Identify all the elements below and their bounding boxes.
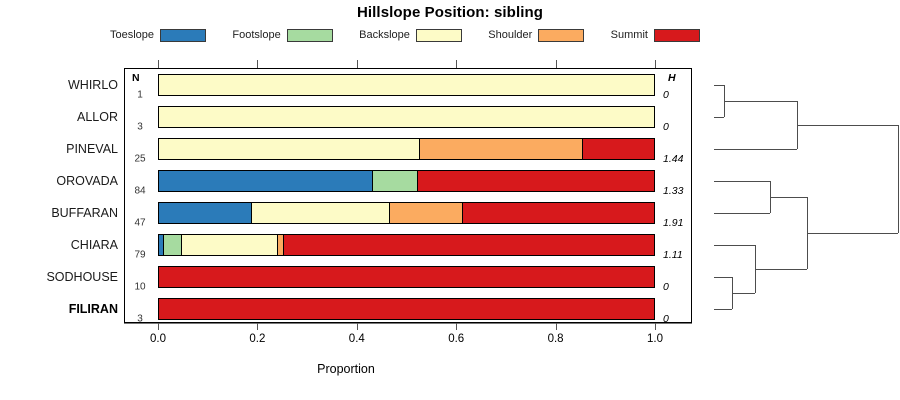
n-value: 79 — [134, 250, 145, 261]
bar-segment-backslope[interactable] — [182, 235, 278, 255]
h-value: 1.44 — [663, 153, 683, 165]
dendrogram-branch — [770, 197, 807, 198]
legend-swatch-icon — [416, 29, 462, 42]
legend-swatch-icon — [538, 29, 584, 42]
bar-segment-backslope[interactable] — [159, 75, 654, 95]
x-tick-label: 0.8 — [548, 333, 564, 345]
bar-segment-footslope[interactable] — [164, 235, 182, 255]
bar-segment-shoulder[interactable] — [390, 203, 463, 223]
stacked-bar-filiran[interactable] — [158, 298, 655, 320]
y-axis-label-buffaran: BUFFARAN — [51, 206, 118, 220]
bar-segment-summit[interactable] — [159, 267, 654, 287]
bar-segment-summit[interactable] — [159, 299, 654, 319]
bar-segment-toeslope[interactable] — [159, 203, 252, 223]
legend-swatch-icon — [160, 29, 206, 42]
y-axis-label-pineval: PINEVAL — [66, 142, 118, 156]
stacked-bar-pineval[interactable] — [158, 138, 655, 160]
dendrogram-branch — [714, 181, 770, 182]
legend-item-footslope[interactable]: Footslope — [232, 29, 332, 42]
n-value: 3 — [137, 122, 143, 133]
dendrogram-branch — [898, 125, 899, 233]
h-value: 0 — [663, 281, 669, 293]
legend-swatch-icon — [654, 29, 700, 42]
bar-segment-footslope[interactable] — [373, 171, 418, 191]
dendrogram-branch — [755, 269, 807, 270]
n-value: 3 — [137, 314, 143, 325]
tick-mark-bottom — [556, 323, 557, 330]
n-value: 10 — [134, 282, 145, 293]
tick-mark-bottom — [357, 323, 358, 330]
legend-item-shoulder[interactable]: Shoulder — [488, 29, 584, 42]
n-column-header: N — [132, 72, 140, 84]
tick-mark-top — [655, 60, 656, 68]
x-tick-label: 1.0 — [647, 333, 663, 345]
y-axis-label-filiran: FILIRAN — [69, 302, 118, 316]
h-value: 1.91 — [663, 217, 683, 229]
dendrogram-branch — [714, 117, 724, 118]
bar-segment-toeslope[interactable] — [159, 171, 373, 191]
y-axis-label-orovada: OROVADA — [56, 174, 118, 188]
h-value: 0 — [663, 89, 669, 101]
n-value: 84 — [134, 186, 145, 197]
bar-segment-backslope[interactable] — [252, 203, 391, 223]
dendrogram-branch — [714, 149, 797, 150]
y-axis-label-allor: ALLOR — [77, 110, 118, 124]
tick-mark-top — [158, 60, 159, 68]
bar-segment-backslope[interactable] — [159, 107, 654, 127]
dendrogram-branch — [714, 245, 755, 246]
legend-swatch-icon — [287, 29, 333, 42]
bar-segment-backslope[interactable] — [159, 139, 420, 159]
stacked-bar-orovada[interactable] — [158, 170, 655, 192]
h-value: 0 — [663, 313, 669, 325]
x-tick-label: 0.4 — [349, 333, 365, 345]
legend-item-backslope[interactable]: Backslope — [359, 29, 462, 42]
dendrogram-branch — [797, 125, 898, 126]
chart-root: Hillslope Position: sibling ToeslopeFoot… — [0, 0, 900, 400]
dendrogram-branch — [724, 101, 797, 102]
y-axis-label-chiara: CHIARA — [71, 238, 118, 252]
dendrogram-branch — [714, 277, 732, 278]
dendrogram-branch — [807, 233, 898, 234]
tick-mark-top — [556, 60, 557, 68]
x-tick-label: 0.0 — [150, 333, 166, 345]
h-value: 0 — [663, 121, 669, 133]
n-value: 1 — [137, 90, 143, 101]
legend-label: Footslope — [232, 29, 280, 41]
x-tick-label: 0.2 — [249, 333, 265, 345]
y-axis-labels: WHIRLOALLORPINEVALOROVADABUFFARANCHIARAS… — [0, 0, 118, 400]
tick-mark-bottom — [456, 323, 457, 330]
legend: ToeslopeFootslopeBackslopeShoulderSummit — [110, 26, 700, 44]
tick-mark-top — [357, 60, 358, 68]
stacked-bar-chiara[interactable] — [158, 234, 655, 256]
dendrogram-branch — [714, 213, 770, 214]
tick-mark-bottom — [158, 323, 159, 330]
h-value: 1.33 — [663, 185, 683, 197]
y-axis-label-sodhouse: SODHOUSE — [46, 270, 118, 284]
tick-mark-top — [257, 60, 258, 68]
tick-mark-bottom — [257, 323, 258, 330]
tick-mark-bottom — [655, 323, 656, 330]
legend-item-summit[interactable]: Summit — [611, 29, 700, 42]
legend-label: Summit — [611, 29, 648, 41]
bar-segment-summit[interactable] — [463, 203, 654, 223]
tick-mark-top — [456, 60, 457, 68]
bar-segment-summit[interactable] — [418, 171, 654, 191]
legend-label: Backslope — [359, 29, 410, 41]
x-tick-label: 0.6 — [448, 333, 464, 345]
h-value: 1.11 — [663, 249, 683, 261]
stacked-bar-buffaran[interactable] — [158, 202, 655, 224]
dendrogram-branch — [714, 309, 732, 310]
y-axis-label-whirlo: WHIRLO — [68, 78, 118, 92]
x-axis-line — [124, 323, 692, 324]
x-axis-title: Proportion — [0, 362, 692, 376]
n-value: 25 — [134, 154, 145, 165]
bar-segment-summit[interactable] — [583, 139, 654, 159]
dendrogram-branch — [714, 85, 724, 86]
stacked-bar-sodhouse[interactable] — [158, 266, 655, 288]
h-column-header: H — [668, 72, 676, 84]
bar-segment-shoulder[interactable] — [420, 139, 582, 159]
n-value: 47 — [134, 218, 145, 229]
dendrogram-branch — [732, 293, 755, 294]
stacked-bar-whirlo[interactable] — [158, 74, 655, 96]
dendrogram — [692, 60, 900, 340]
legend-item-toeslope[interactable]: Toeslope — [110, 29, 206, 42]
legend-label: Shoulder — [488, 29, 532, 41]
chart-title: Hillslope Position: sibling — [0, 4, 900, 21]
bar-segment-summit[interactable] — [284, 235, 654, 255]
stacked-bar-allor[interactable] — [158, 106, 655, 128]
